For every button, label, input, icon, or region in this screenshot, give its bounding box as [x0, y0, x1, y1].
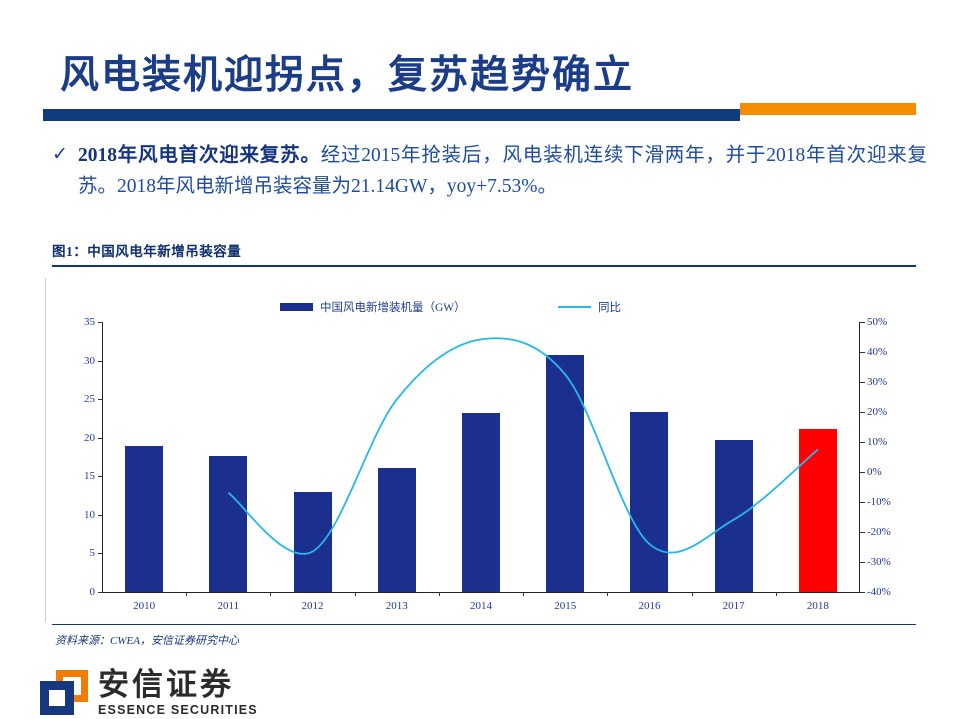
- y-axis-right-tick-label: 0%: [867, 466, 882, 478]
- x-axis-tick-label: 2018: [807, 600, 829, 612]
- y-axis-left-tick: [98, 361, 103, 362]
- y-axis-left-tick: [98, 476, 103, 477]
- y-axis-right-tick-label: 40%: [867, 346, 887, 358]
- y-axis-right-labels: -40%-30%-20%-10%0%10%20%30%40%50%: [867, 322, 927, 592]
- bullet-row: ✓ 2018年风电首次迎来复苏。经过2015年抢装后，风电装机连续下滑两年，并于…: [52, 140, 927, 202]
- checkmark-icon: ✓: [52, 140, 78, 170]
- x-axis-tick: [355, 592, 356, 596]
- y-axis-left-tick-label: 25: [84, 393, 95, 405]
- y-axis-left-tick-label: 20: [84, 432, 95, 444]
- y-axis-right-tick: [860, 502, 865, 503]
- header-accent-rule: [43, 103, 916, 121]
- y-axis-left-tick-label: 10: [84, 509, 95, 521]
- x-axis-tick: [439, 592, 440, 596]
- legend-label-line: 同比: [598, 299, 621, 315]
- chart-plot-area: 05101520253035 -40%-30%-20%-10%0%10%20%3…: [45, 314, 917, 598]
- legend-swatch-bar-icon: [280, 303, 313, 311]
- x-axis-tick-label: 2012: [302, 600, 324, 612]
- legend-item-line: 同比: [558, 299, 621, 315]
- logo-text: 安信证券 ESSENCE SECURITIES: [98, 668, 258, 717]
- y-axis-left-tick: [98, 322, 103, 323]
- x-axis-tick: [523, 592, 524, 596]
- y-axis-right-tick: [860, 532, 865, 533]
- company-logo: 安信证券 ESSENCE SECURITIES: [40, 668, 258, 717]
- yoy-line-path: [228, 338, 818, 554]
- y-axis-right-tick-label: 20%: [867, 406, 887, 418]
- x-axis-tick-label: 2014: [470, 600, 492, 612]
- x-axis-tick-label: 2015: [554, 600, 576, 612]
- y-axis-left-tick: [98, 438, 103, 439]
- x-axis-tick: [270, 592, 271, 596]
- x-axis-tick: [692, 592, 693, 596]
- x-axis-tick-label: 2016: [638, 600, 660, 612]
- x-axis-tick-label: 2011: [218, 600, 240, 612]
- y-axis-right-tick: [860, 412, 865, 413]
- x-axis-line: [102, 592, 860, 593]
- y-axis-left-tick-label: 0: [90, 586, 96, 598]
- x-axis-tick: [607, 592, 608, 596]
- bullet-block: ✓ 2018年风电首次迎来复苏。经过2015年抢装后，风电装机连续下滑两年，并于…: [52, 140, 927, 202]
- legend-label-bars: 中国风电新增装机量（GW）: [320, 299, 466, 315]
- y-axis-left-tick-label: 15: [84, 470, 95, 482]
- logo-name-cn: 安信证券: [98, 668, 258, 702]
- y-axis-right-tick: [860, 382, 865, 383]
- chart-container: 中国风电新增装机量（GW） 同比 05101520253035 -40%-30%…: [45, 278, 917, 622]
- y-axis-left-tick-label: 5: [90, 547, 96, 559]
- figure-caption: 图1：中国风电年新增吊装容量: [52, 240, 241, 260]
- source-divider: [52, 624, 916, 625]
- y-axis-left-tick: [98, 592, 103, 593]
- y-axis-left-tick-label: 30: [84, 355, 95, 367]
- y-axis-right-tick-label: -20%: [867, 526, 891, 538]
- yoy-line-layer: [102, 322, 860, 592]
- x-axis-tick-label: 2017: [723, 600, 745, 612]
- y-axis-right-tick: [860, 322, 865, 323]
- y-axis-right-tick-label: 30%: [867, 376, 887, 388]
- legend-swatch-line-icon: [558, 306, 591, 308]
- y-axis-right-tick: [860, 592, 865, 593]
- bullet-text: 2018年风电首次迎来复苏。经过2015年抢装后，风电装机连续下滑两年，并于20…: [78, 140, 927, 202]
- x-axis-tick: [776, 592, 777, 596]
- y-axis-left-labels: 05101520253035: [45, 322, 95, 592]
- y-axis-right-tick-label: -10%: [867, 496, 891, 508]
- y-axis-left-tick: [98, 553, 103, 554]
- header-rule-navy: [43, 109, 740, 121]
- y-axis-right-tick: [860, 562, 865, 563]
- y-axis-right-tick: [860, 442, 865, 443]
- y-axis-left-tick: [98, 399, 103, 400]
- y-axis-right-tick-label: -40%: [867, 586, 891, 598]
- y-axis-left-tick-label: 35: [84, 316, 95, 328]
- page-title: 风电装机迎拐点，复苏趋势确立: [60, 44, 634, 100]
- y-axis-right-tick: [860, 472, 865, 473]
- y-axis-right-tick-label: -30%: [867, 556, 891, 568]
- bullet-lead: 2018年风电首次迎来复苏。: [78, 145, 321, 166]
- source-note: 资料来源：CWEA，安信证券研究中心: [55, 632, 239, 648]
- logo-name-en: ESSENCE SECURITIES: [98, 703, 258, 717]
- y-axis-left-tick: [98, 515, 103, 516]
- y-axis-right-tick-label: 10%: [867, 436, 887, 448]
- legend-item-bars: 中国风电新增装机量（GW）: [280, 299, 466, 315]
- caption-divider: [52, 265, 916, 267]
- x-axis-tick-label: 2010: [133, 600, 155, 612]
- y-axis-right-tick-label: 50%: [867, 316, 887, 328]
- logo-navy-square-icon: [40, 681, 74, 715]
- x-axis-tick-label: 2013: [386, 600, 408, 612]
- header-rule-orange: [740, 103, 916, 115]
- essence-logo-mark-icon: [40, 670, 88, 716]
- y-axis-right-tick: [860, 352, 865, 353]
- x-axis-tick: [186, 592, 187, 596]
